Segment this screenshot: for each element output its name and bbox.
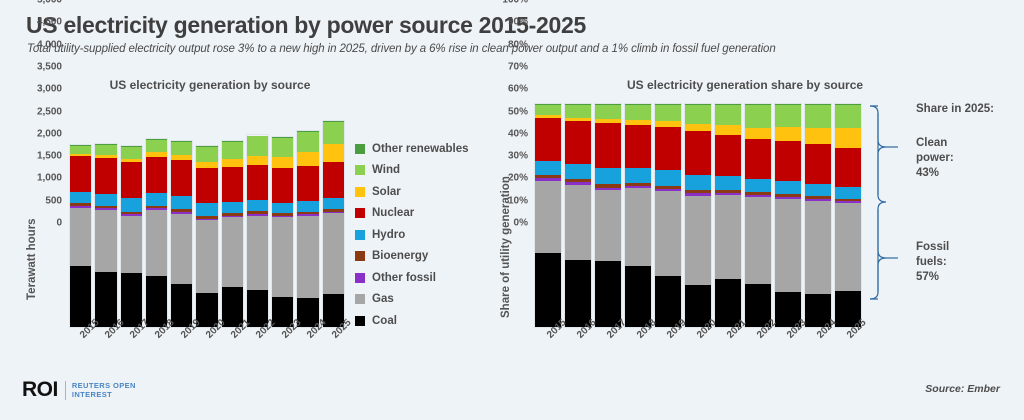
bar-segment-gas[interactable] [625,188,651,266]
bar-segment-nuclear[interactable] [196,168,217,203]
x-axis-tick: 2023 [773,331,803,365]
y-axis-tick-label: 40% [508,128,528,139]
stacked-bar[interactable] [625,104,651,327]
bar-segment-nuclear[interactable] [835,148,861,186]
bar-column[interactable] [653,104,683,327]
bar-segment-gas[interactable] [715,195,741,279]
roi-logo-line1: REUTERS OPEN [72,381,136,390]
x-axis-tick: 2015 [68,331,93,365]
legend-item[interactable]: Solar [355,181,480,203]
bar-segment-hydro[interactable] [835,187,861,199]
bar-segment-coal[interactable] [535,253,561,327]
bar-segment-nuclear[interactable] [95,158,116,194]
legend-swatch-icon [355,208,365,218]
x-axis-tick: 2018 [144,331,169,365]
legend-swatch-icon [355,294,365,304]
bar-segment-hydro[interactable] [685,175,711,191]
legend-item[interactable]: Other renewables [355,138,480,160]
bar-column[interactable] [295,104,320,327]
bar-column[interactable] [245,104,270,327]
stacked-bar[interactable] [95,144,116,327]
left-chart-title: US electricity generation by source [60,78,360,92]
x-axis-tick: 2021 [220,331,245,365]
stacked-bar[interactable] [222,141,243,327]
bar-segment-gas[interactable] [805,201,831,294]
bar-segment-solar[interactable] [323,144,344,163]
stacked-bar[interactable] [272,137,293,327]
bar-segment-wind[interactable] [121,147,142,159]
y-axis-tick-label: 4,500 [37,17,62,28]
bar-column[interactable] [93,104,118,327]
bar-segment-nuclear[interactable] [323,162,344,197]
bar-segment-hydro[interactable] [247,200,268,212]
x-axis-tick: 2016 [563,331,593,365]
stacked-bar[interactable] [70,145,91,327]
bar-segment-gas[interactable] [565,185,591,260]
stacked-bar[interactable] [805,104,831,327]
bar-segment-solar[interactable] [775,127,801,140]
stacked-bar[interactable] [595,104,621,327]
bar-segment-hydro[interactable] [95,194,116,206]
bar-segment-nuclear[interactable] [805,144,831,183]
roi-logo: ROI REUTERS OPEN INTEREST [22,378,136,402]
bar-column[interactable] [119,104,144,327]
x-axis-tick: 2017 [593,331,623,365]
y-axis-tick-label: 70% [508,61,528,72]
bar-segment-solar[interactable] [835,128,861,148]
y-axis-tick-label: 1,500 [37,151,62,162]
bar-segment-hydro[interactable] [222,202,243,214]
bar-segment-hydro[interactable] [323,198,344,210]
bar-column[interactable] [194,104,219,327]
bar-segment-gas[interactable] [171,214,192,284]
bar-segment-wind[interactable] [535,105,561,115]
legend-swatch-icon [355,230,365,240]
bar-segment-solar[interactable] [715,125,741,134]
legend-item-label: Gas [372,293,394,305]
bar-segment-hydro[interactable] [297,201,318,212]
right-chart-plot-area [533,104,863,327]
x-axis-tick: 2024 [803,331,833,365]
bar-segment-wind[interactable] [70,146,91,154]
bar-segment-wind[interactable] [715,105,741,125]
bar-segment-gas[interactable] [535,181,561,253]
bar-segment-coal[interactable] [95,272,116,327]
bar-segment-wind[interactable] [247,136,268,156]
bar-column[interactable] [321,104,346,327]
y-axis-tick-label: 100% [502,0,528,6]
bar-segment-wind[interactable] [625,105,651,120]
y-axis-tick-label: 10% [508,195,528,206]
stacked-bar[interactable] [565,104,591,327]
bar-segment-coal[interactable] [121,273,142,327]
bar-segment-nuclear[interactable] [685,131,711,174]
stacked-bar[interactable] [835,104,861,327]
bar-segment-gas[interactable] [247,216,268,290]
legend-item[interactable]: Hydro [355,224,480,246]
legend-item[interactable]: Bioenergy [355,246,480,268]
x-axis-tick: 2016 [93,331,118,365]
bar-segment-hydro[interactable] [745,179,771,193]
stacked-bar[interactable] [171,141,192,327]
bar-column[interactable] [593,104,623,327]
bar-segment-solar[interactable] [805,128,831,144]
bar-segment-hydro[interactable] [70,192,91,203]
legend-item-label: Other fossil [372,272,436,284]
bar-segment-nuclear[interactable] [535,118,561,162]
y-axis-tick-label: 1,000 [37,173,62,184]
y-axis-tick-label: 90% [508,17,528,28]
bar-segment-wind[interactable] [323,122,344,143]
x-axis-tick: 2020 [683,331,713,365]
stacked-bar[interactable] [745,104,771,327]
bar-segment-wind[interactable] [805,105,831,128]
left-chart-y-ticks: 5,0004,5004,0003,5003,0002,5002,0001,500… [10,0,62,223]
bar-segment-coal[interactable] [146,276,167,327]
footer: ROI REUTERS OPEN INTEREST Source: Ember [0,370,1024,420]
roi-logo-divider [65,381,66,400]
y-axis-tick-label: 500 [45,195,62,206]
bar-column[interactable] [563,104,593,327]
source-credit: Source: Ember [925,383,1000,395]
right-chart-y-ticks: 100%90%80%70%60%50%40%30%20%10%0% [478,0,528,223]
bar-segment-nuclear[interactable] [146,157,167,193]
bar-segment-coal[interactable] [565,260,591,327]
roi-logo-wordmark: REUTERS OPEN INTEREST [72,381,136,400]
bar-segment-hydro[interactable] [272,203,293,214]
x-axis-tick: 2019 [169,331,194,365]
bar-segment-nuclear[interactable] [715,135,741,177]
legend-item[interactable]: Wind [355,160,480,182]
roi-logo-line2: INTEREST [72,390,112,399]
bar-segment-solar[interactable] [272,157,293,168]
bar-segment-gas[interactable] [745,197,771,284]
x-axis-tick: 2015 [533,331,563,365]
bar-segment-gas[interactable] [272,217,293,297]
legend-swatch-icon [355,316,365,326]
bar-column[interactable] [68,104,93,327]
x-axis-tick: 2025 [833,331,863,365]
bar-column[interactable] [220,104,245,327]
bar-segment-wind[interactable] [95,145,116,155]
legend-item-label: Other renewables [372,143,469,155]
left-chart-y-axis-label: Terawatt hours [26,218,38,300]
bar-segment-nuclear[interactable] [565,121,591,165]
bar-segment-solar[interactable] [222,159,243,167]
right-chart-bars [533,104,863,327]
bar-column[interactable] [713,104,743,327]
legend-swatch-icon [355,165,365,175]
stacked-bar[interactable] [685,104,711,327]
y-axis-tick-label: 60% [508,84,528,95]
page-subtitle: Total utility-supplied electricity outpu… [27,43,776,55]
stacked-bar[interactable] [715,104,741,327]
bar-segment-solar[interactable] [247,156,268,165]
legend-item-label: Nuclear [372,207,414,219]
stacked-bar[interactable] [655,104,681,327]
bar-segment-hydro[interactable] [535,161,561,175]
bar-column[interactable] [169,104,194,327]
bar-column[interactable] [623,104,653,327]
bar-segment-wind[interactable] [196,147,217,162]
bar-segment-wind[interactable] [171,142,192,155]
x-axis-tick: 2022 [743,331,773,365]
legend-item[interactable]: Nuclear [355,203,480,225]
bar-segment-gas[interactable] [323,213,344,294]
bar-segment-gas[interactable] [595,190,621,261]
bar-segment-nuclear[interactable] [745,139,771,179]
x-axis-tick: 2020 [194,331,219,365]
legend-item[interactable]: Gas [355,289,480,311]
left-chart-x-ticks: 2015201620172018201920202021202220232024… [68,331,346,365]
bar-segment-wind[interactable] [272,138,293,157]
stacked-bar[interactable] [323,121,344,327]
bar-segment-wind[interactable] [222,142,243,159]
bar-segment-wind[interactable] [565,105,591,117]
stacked-bar[interactable] [247,135,268,327]
bar-segment-nuclear[interactable] [775,141,801,182]
bar-segment-wind[interactable] [146,140,167,152]
bar-segment-coal[interactable] [70,266,91,327]
bar-segment-hydro[interactable] [565,164,591,179]
bar-segment-hydro[interactable] [775,181,801,193]
legend-swatch-icon [355,187,365,197]
right-chart-title: US electricity generation share by sourc… [580,78,910,92]
x-axis-tick: 2022 [245,331,270,365]
bar-segment-nuclear[interactable] [655,127,681,170]
stacked-bar[interactable] [297,131,318,327]
x-axis-tick: 2018 [623,331,653,365]
chart-legend: Other renewablesWindSolarNuclearHydroBio… [355,138,480,332]
bar-column[interactable] [803,104,833,327]
right-chart-x-ticks: 2015201620172018201920202021202220232024… [533,331,863,365]
bar-segment-gas[interactable] [146,210,167,276]
bar-column[interactable] [144,104,169,327]
bar-segment-hydro[interactable] [595,168,621,185]
x-axis-tick: 2024 [295,331,320,365]
bar-segment-nuclear[interactable] [297,166,318,201]
y-axis-tick-label: 20% [508,173,528,184]
bar-segment-nuclear[interactable] [595,123,621,167]
y-axis-tick-label: 80% [508,39,528,50]
legend-item-label: Wind [372,164,400,176]
bar-segment-gas[interactable] [655,191,681,276]
legend-item-label: Bioenergy [372,250,428,262]
annotation-fossil-fuels: Fossil fuels: 57% [916,240,949,285]
bar-segment-gas[interactable] [222,217,243,287]
y-axis-tick-label: 50% [508,106,528,117]
bar-segment-gas[interactable] [121,216,142,274]
stacked-bar[interactable] [535,104,561,327]
y-axis-tick-label: 0 [56,218,62,229]
x-axis-tick: 2025 [321,331,346,365]
legend-item[interactable]: Coal [355,310,480,332]
x-axis-tick: 2019 [653,331,683,365]
share-annotations: Share in 2025: Clean power: 43% Fossil f… [868,100,1024,340]
bar-segment-coal[interactable] [625,266,651,327]
bar-segment-nuclear[interactable] [247,165,268,199]
bar-segment-nuclear[interactable] [625,125,651,168]
bar-segment-wind[interactable] [745,105,771,128]
bar-segment-hydro[interactable] [171,196,192,209]
bar-segment-hydro[interactable] [625,168,651,183]
legend-item-label: Solar [372,186,401,198]
x-axis-tick: 2023 [270,331,295,365]
x-axis-tick: 2021 [713,331,743,365]
bar-column[interactable] [533,104,563,327]
bar-segment-nuclear[interactable] [121,162,142,198]
annotation-heading: Share in 2025: [916,102,994,117]
legend-item-label: Hydro [372,229,405,241]
bar-column[interactable] [683,104,713,327]
bar-column[interactable] [773,104,803,327]
bar-column[interactable] [270,104,295,327]
y-axis-tick-label: 4,000 [37,39,62,50]
bar-segment-hydro[interactable] [805,184,831,197]
legend-swatch-icon [355,273,365,283]
y-axis-tick-label: 2,500 [37,106,62,117]
legend-item[interactable]: Other fossil [355,267,480,289]
annotation-clean-power: Clean power: 43% [916,136,954,181]
bar-segment-wind[interactable] [835,105,861,128]
bar-segment-wind[interactable] [595,105,621,119]
stacked-bar[interactable] [775,104,801,327]
bar-segment-hydro[interactable] [146,193,167,206]
x-axis-tick: 2017 [119,331,144,365]
left-chart-plot-area [68,104,346,327]
roi-logo-mark: ROI [22,378,58,402]
bar-segment-gas[interactable] [775,199,801,292]
y-axis-tick-label: 30% [508,151,528,162]
bar-segment-coal[interactable] [171,284,192,327]
bar-segment-wind[interactable] [297,132,318,152]
y-axis-tick-label: 5,000 [37,0,62,6]
bar-segment-hydro[interactable] [655,170,681,186]
left-chart-bars [68,104,346,327]
stacked-bar[interactable] [146,139,167,327]
bar-segment-gas[interactable] [297,216,318,298]
bar-segment-wind[interactable] [775,105,801,128]
stacked-bar[interactable] [121,146,142,327]
bar-segment-solar[interactable] [685,124,711,131]
bar-segment-gas[interactable] [835,203,861,291]
bar-segment-solar[interactable] [297,152,318,166]
bar-segment-hydro[interactable] [196,203,217,216]
legend-swatch-icon [355,144,365,154]
bar-segment-hydro[interactable] [121,198,142,211]
legend-item-label: Coal [372,315,397,327]
stacked-bar[interactable] [196,146,217,327]
y-axis-tick-label: 3,000 [37,84,62,95]
bar-segment-hydro[interactable] [715,176,741,190]
bar-segment-nuclear[interactable] [171,160,192,196]
bar-segment-nuclear[interactable] [222,167,243,202]
bar-segment-gas[interactable] [70,208,91,267]
legend-swatch-icon [355,251,365,261]
y-axis-tick-label: 2,000 [37,128,62,139]
bar-segment-wind[interactable] [655,105,681,121]
bar-segment-gas[interactable] [685,196,711,285]
infographic-root: US electricity generation by power sourc… [0,0,1024,420]
bar-column[interactable] [833,104,863,327]
bar-segment-gas[interactable] [95,210,116,272]
bar-segment-solar[interactable] [745,128,771,139]
y-axis-tick-label: 0% [514,218,528,229]
bar-segment-nuclear[interactable] [70,156,91,192]
bar-segment-nuclear[interactable] [272,168,293,203]
bar-segment-gas[interactable] [196,220,217,292]
bar-column[interactable] [743,104,773,327]
y-axis-tick-label: 3,500 [37,61,62,72]
bar-segment-coal[interactable] [595,261,621,327]
bar-segment-wind[interactable] [685,105,711,124]
